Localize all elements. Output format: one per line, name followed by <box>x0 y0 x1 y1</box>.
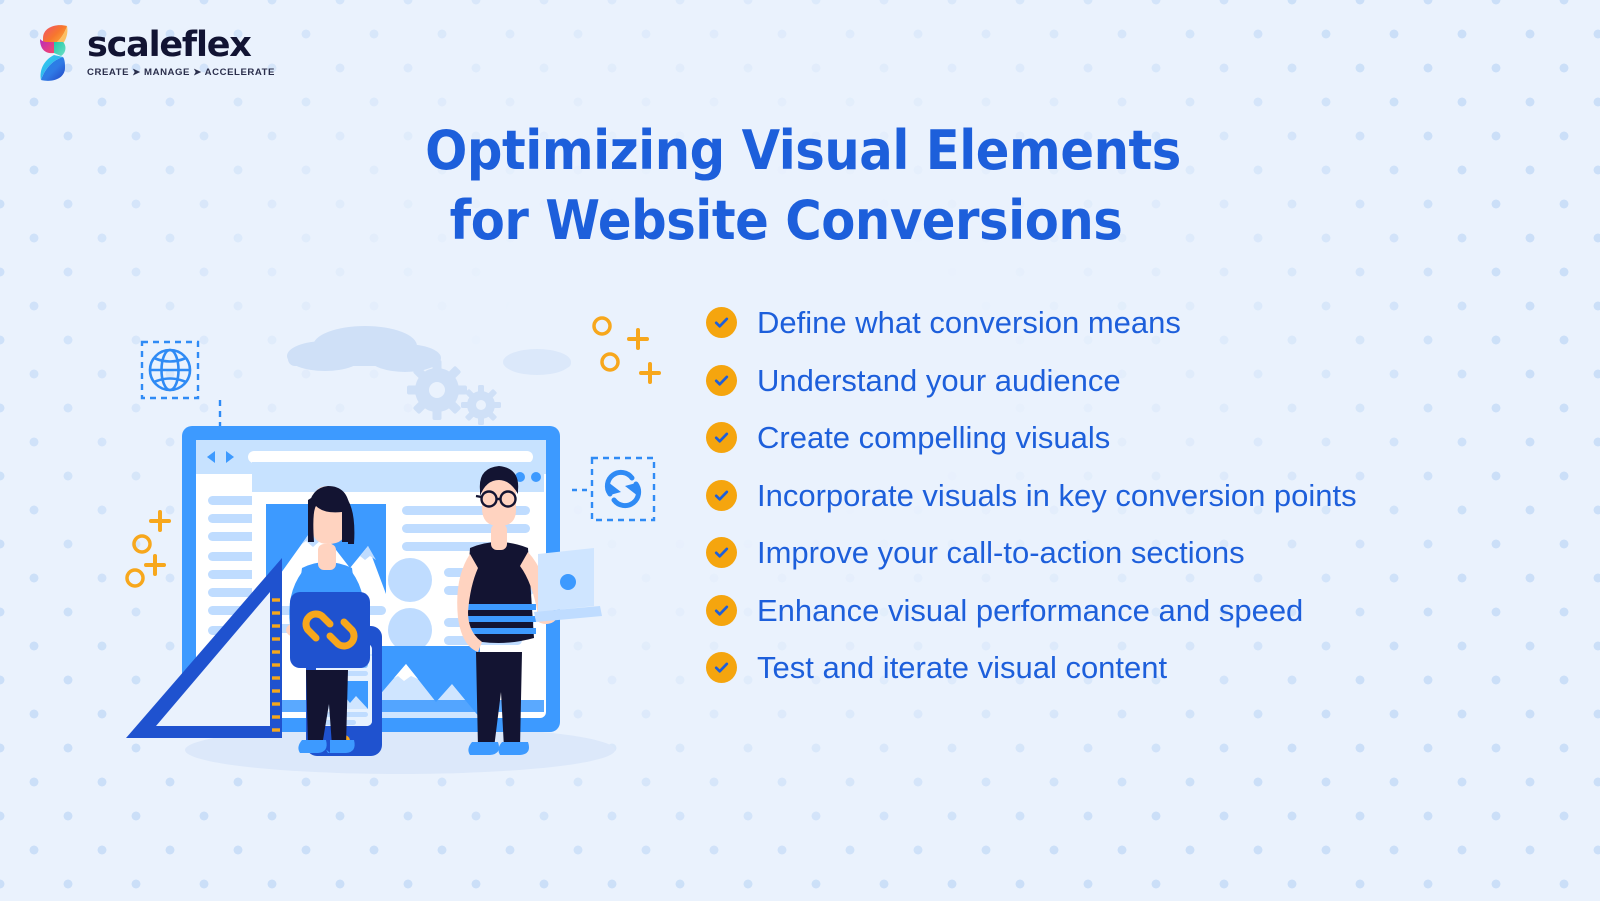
link-card <box>290 592 370 668</box>
checklist-item-label: Test and iterate visual content <box>757 652 1167 683</box>
page-title-line-2: for Website Conversions <box>37 186 1535 256</box>
scaleflex-logo[interactable]: scaleflex CREATE ➤ MANAGE ➤ ACCELERATE <box>33 22 275 84</box>
benefits-checklist: Define what conversion meansUnderstand y… <box>706 307 1357 683</box>
belt-stripes <box>464 604 536 634</box>
checklist-item-label: Understand your audience <box>757 365 1121 396</box>
laptop-device <box>534 548 602 622</box>
checklist-item-label: Improve your call-to-action sections <box>757 537 1245 568</box>
cloud-shape <box>287 326 441 372</box>
checklist-item[interactable]: Test and iterate visual content <box>706 652 1357 683</box>
checklist-item[interactable]: Define what conversion means <box>706 307 1357 338</box>
sync-refresh-icon <box>607 472 638 505</box>
browser-url-bar <box>248 451 533 463</box>
logo-brand-text: scaleflex <box>87 28 275 63</box>
checklist-item-label: Incorporate visuals in key conversion po… <box>757 480 1357 511</box>
logo-tagline-text: CREATE ➤ MANAGE ➤ ACCELERATE <box>87 67 275 78</box>
sync-refresh-icon-dashed-box <box>572 458 654 520</box>
checklist-item-label: Define what conversion means <box>757 307 1181 338</box>
checklist-item[interactable]: Improve your call-to-action sections <box>706 537 1357 568</box>
globe-icon-dashed-box <box>142 342 220 428</box>
checklist-item[interactable]: Incorporate visuals in key conversion po… <box>706 480 1357 511</box>
orange-circle-decoration <box>594 318 618 370</box>
check-circle-icon <box>706 537 737 568</box>
orange-circle-decoration-left <box>127 536 150 586</box>
website-conversion-illustration <box>110 300 680 800</box>
check-circle-icon <box>706 652 737 683</box>
checklist-item[interactable]: Create compelling visuals <box>706 422 1357 453</box>
cloud-shape-small <box>503 349 571 375</box>
scaleflex-s-ribbon-icon <box>33 22 75 84</box>
page-title: Optimizing Visual Elements for Website C… <box>0 116 1600 256</box>
checklist-item[interactable]: Understand your audience <box>706 365 1357 396</box>
check-circle-icon <box>706 422 737 453</box>
check-circle-icon <box>706 307 737 338</box>
globe-icon <box>150 350 190 390</box>
check-circle-icon <box>706 480 737 511</box>
orange-plus-decoration <box>629 330 659 382</box>
check-circle-icon <box>706 365 737 396</box>
check-circle-icon <box>706 595 737 626</box>
checklist-item-label: Create compelling visuals <box>757 422 1110 453</box>
checklist-item[interactable]: Enhance visual performance and speed <box>706 595 1357 626</box>
page-title-line-1: Optimizing Visual Elements <box>70 116 1536 186</box>
gears-icon <box>407 360 501 425</box>
checklist-item-label: Enhance visual performance and speed <box>757 595 1303 626</box>
